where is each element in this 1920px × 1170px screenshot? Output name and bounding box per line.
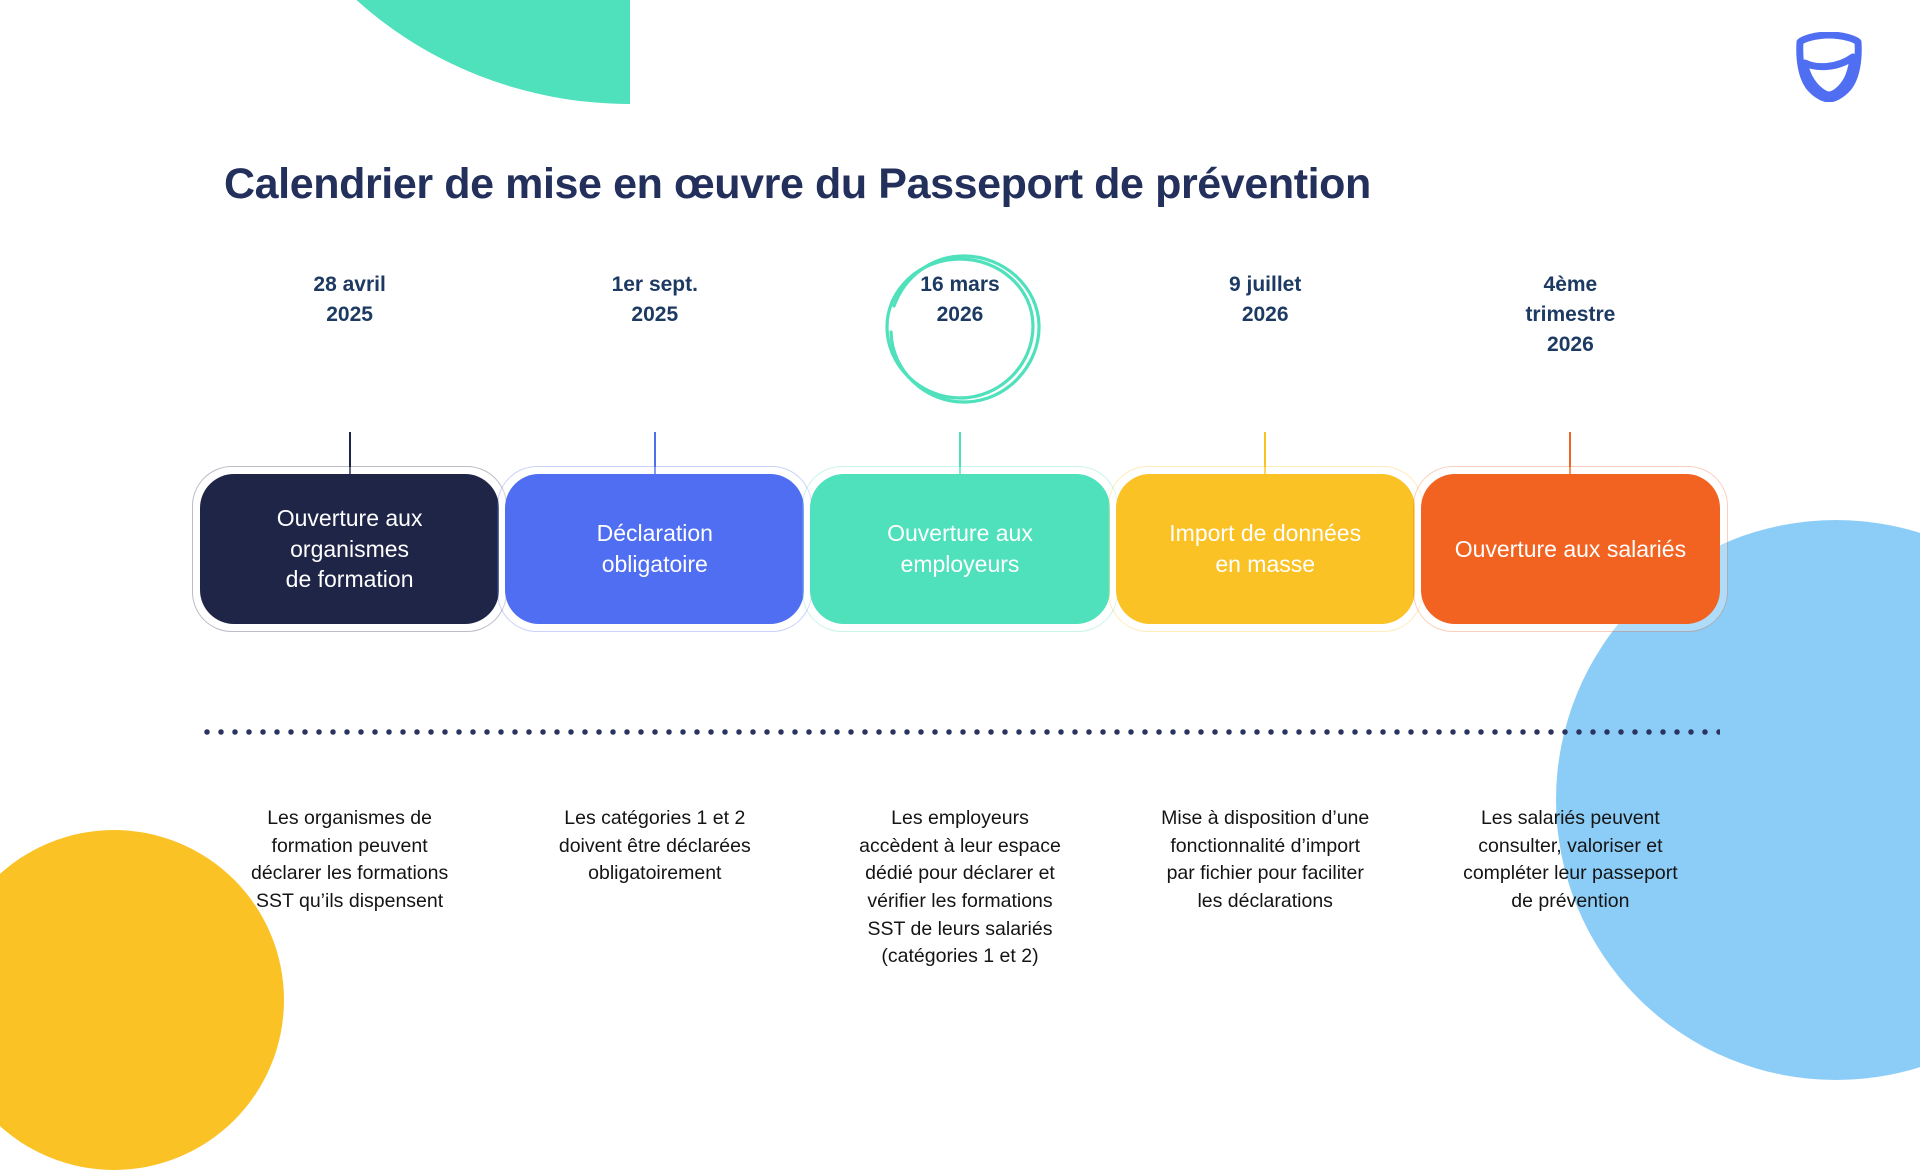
milestone-card[interactable]: Déclaration obligatoire xyxy=(505,474,804,624)
milestone-date: 1er sept. 2025 xyxy=(505,270,804,330)
milestone-card[interactable]: Ouverture aux salariés xyxy=(1421,474,1720,624)
milestone-card[interactable]: Ouverture aux organismes de formation xyxy=(200,474,499,624)
milestone-card[interactable]: Ouverture aux employeurs xyxy=(810,474,1109,624)
decorative-teal-shape xyxy=(232,0,630,104)
milestone-date: 4ème trimestre 2026 xyxy=(1421,270,1720,359)
milestone-description: Les catégories 1 et 2 doivent être décla… xyxy=(550,805,760,888)
milestone-description: Les salariés peuvent consulter, valorise… xyxy=(1458,805,1683,916)
milestone-description: Les organismes de formation peuvent décl… xyxy=(240,805,460,916)
milestone-description: Mise à disposition d’une fonctionnalité … xyxy=(1153,805,1378,916)
dotted-divider xyxy=(200,728,1720,736)
descriptions-row: Les organismes de formation peuvent décl… xyxy=(200,805,1720,1025)
milestone-date: 28 avril 2025 xyxy=(200,270,499,330)
milestone-description: Les employeurs accèdent à leur espace dé… xyxy=(853,805,1068,971)
milestone-date: 16 mars 2026 xyxy=(810,270,1109,330)
shield-logo-icon xyxy=(1796,32,1862,102)
page-title: Calendrier de mise en œuvre du Passeport… xyxy=(224,160,1704,209)
milestone-date: 9 juillet 2026 xyxy=(1116,270,1415,330)
timeline: 28 avril 2025Ouverture aux organismes de… xyxy=(200,270,1720,710)
milestone-card[interactable]: Import de données en masse xyxy=(1116,474,1415,624)
